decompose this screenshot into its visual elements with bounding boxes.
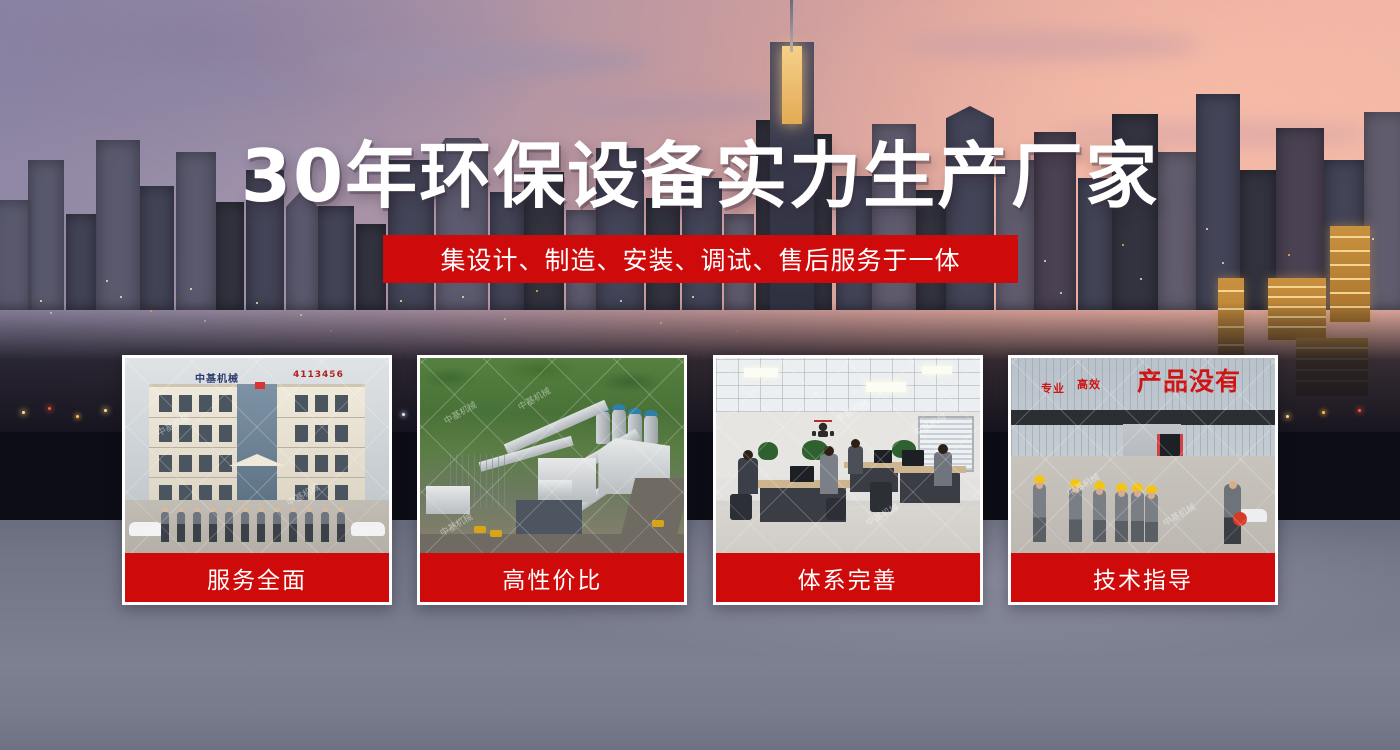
page-title: 30年环保设备实力生产厂家: [0, 133, 1400, 219]
card-photo-workers-yard: 产品没有 专业 高效 中基机械 中基机械: [1011, 358, 1275, 556]
building-sign-text: 中基机械: [195, 370, 239, 385]
card-photo-office-interior: 中基机械 中基机械 中基机械: [716, 358, 980, 556]
promo-banner: 30年环保设备实力生产厂家 集设计、制造、安装、调试、售后服务于一体: [0, 0, 1400, 750]
factory-wall-slogan-1: 专业: [1041, 380, 1065, 396]
building-phone-text: 4113456: [293, 370, 344, 380]
card-photo-plant-aerial: 中基机械 中基机械 中基机械: [420, 358, 684, 556]
card-photo-headquarters: 中基机械 4113456 中基机械 中基机械: [125, 358, 389, 556]
wall-decal-icon: [808, 418, 838, 442]
card-label-system: 体系完善: [716, 553, 980, 602]
feature-card-system[interactable]: 中基机械 中基机械 中基机械 体系完善: [713, 355, 983, 605]
card-label-service: 服务全面: [125, 553, 389, 602]
tower-spire: [790, 0, 793, 52]
card-label-text: 高性价比: [502, 561, 602, 595]
factory-wall-headline: 产品没有: [1137, 362, 1241, 398]
subtitle-text: 集设计、制造、安装、调试、售后服务于一体: [440, 241, 960, 277]
feature-card-row: 中基机械 4113456 中基机械 中基机械: [122, 355, 1278, 605]
subtitle-banner: 集设计、制造、安装、调试、售后服务于一体: [383, 235, 1018, 283]
card-label-text: 技术指导: [1093, 561, 1193, 595]
factory-wall-slogan-2: 高效: [1077, 376, 1101, 392]
feature-card-guidance[interactable]: 产品没有 专业 高效 中基机械 中基机械: [1008, 355, 1278, 605]
card-label-value: 高性价比: [420, 553, 684, 602]
tower-crown-lights: [782, 46, 802, 124]
feature-card-value[interactable]: 中基机械 中基机械 中基机械 高性价比: [417, 355, 687, 605]
card-label-text: 服务全面: [207, 561, 307, 595]
card-label-text: 体系完善: [798, 561, 898, 595]
feature-card-service[interactable]: 中基机械 4113456 中基机械 中基机械: [122, 355, 392, 605]
card-label-guidance: 技术指导: [1011, 553, 1275, 602]
